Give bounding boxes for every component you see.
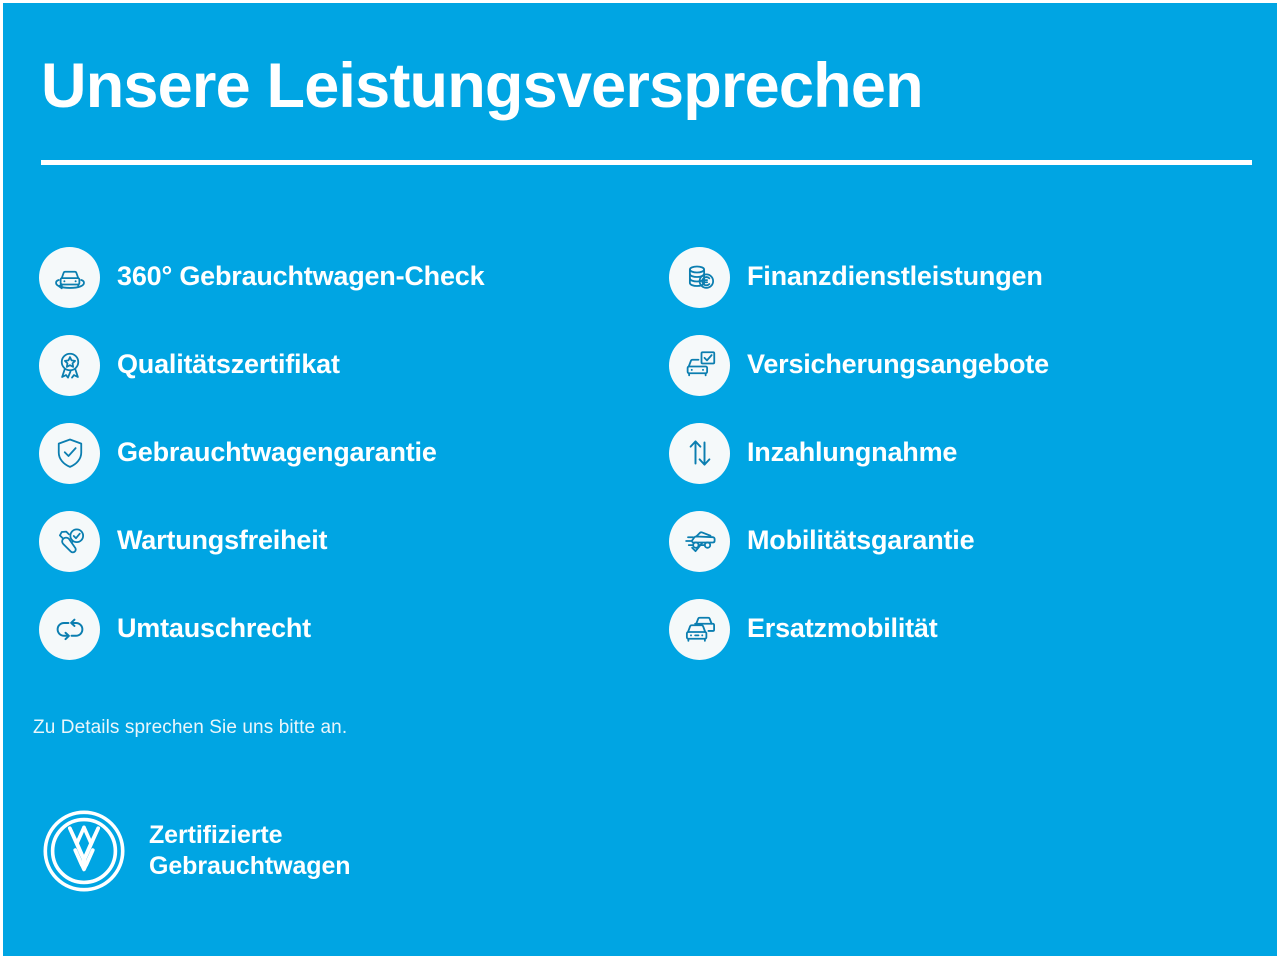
shield-check-icon: [39, 423, 100, 484]
feature-label: Finanzdienstleistungen: [747, 262, 1043, 292]
feature-item-financial-services: Finanzdienstleistungen: [669, 233, 1249, 321]
page-title: Unsere Leistungsversprechen: [41, 55, 1251, 118]
feature-label: Mobilitätsgarantie: [747, 526, 974, 556]
feature-item-insurance-offers: Versicherungsangebote: [669, 321, 1249, 409]
brand-text: Zertifizierte Gebrauchtwagen: [149, 820, 350, 882]
car-document-check-icon: [669, 335, 730, 396]
car-speed-icon: [669, 511, 730, 572]
feature-label: Versicherungsangebote: [747, 350, 1049, 380]
feature-label: Inzahlungnahme: [747, 438, 957, 468]
feature-label: Umtauschrecht: [117, 614, 311, 644]
wrench-check-icon: [39, 511, 100, 572]
footnote-text: Zu Details sprechen Sie uns bitte an.: [33, 717, 347, 739]
features-grid: 360° Gebrauchtwagen-Check Finanzdienstle…: [39, 233, 1249, 673]
feature-item-replacement-mobility: Ersatzmobilität: [669, 585, 1249, 673]
feature-item-quality-certificate: Qualitätszertifikat: [39, 321, 669, 409]
feature-item-exchange-right: Umtauschrecht: [39, 585, 669, 673]
volkswagen-logo-icon: [41, 808, 127, 894]
exchange-arrows-icon: [39, 599, 100, 660]
feature-item-maintenance-free: Wartungsfreiheit: [39, 497, 669, 585]
two-cars-icon: [669, 599, 730, 660]
brand-line-1: Zertifizierte: [149, 820, 350, 851]
feature-item-mobility-guarantee: Mobilitätsgarantie: [669, 497, 1249, 585]
brand-lockup: Zertifizierte Gebrauchtwagen: [41, 808, 350, 894]
feature-label: Qualitätszertifikat: [117, 350, 340, 380]
up-down-arrows-icon: [669, 423, 730, 484]
coins-euro-icon: [669, 247, 730, 308]
header: Unsere Leistungsversprechen: [41, 55, 1251, 118]
feature-item-360-check: 360° Gebrauchtwagen-Check: [39, 233, 669, 321]
brand-line-2: Gebrauchtwagen: [149, 851, 350, 882]
feature-label: 360° Gebrauchtwagen-Check: [117, 262, 484, 292]
feature-label: Wartungsfreiheit: [117, 526, 327, 556]
feature-item-warranty: Gebrauchtwagengarantie: [39, 409, 669, 497]
feature-label: Ersatzmobilität: [747, 614, 938, 644]
award-badge-icon: [39, 335, 100, 396]
title-divider: [41, 160, 1252, 165]
feature-item-trade-in: Inzahlungnahme: [669, 409, 1249, 497]
promise-panel: Unsere Leistungsversprechen 360° Gebrauc…: [0, 0, 1280, 959]
car-360-check-icon: [39, 247, 100, 308]
feature-label: Gebrauchtwagengarantie: [117, 438, 437, 468]
